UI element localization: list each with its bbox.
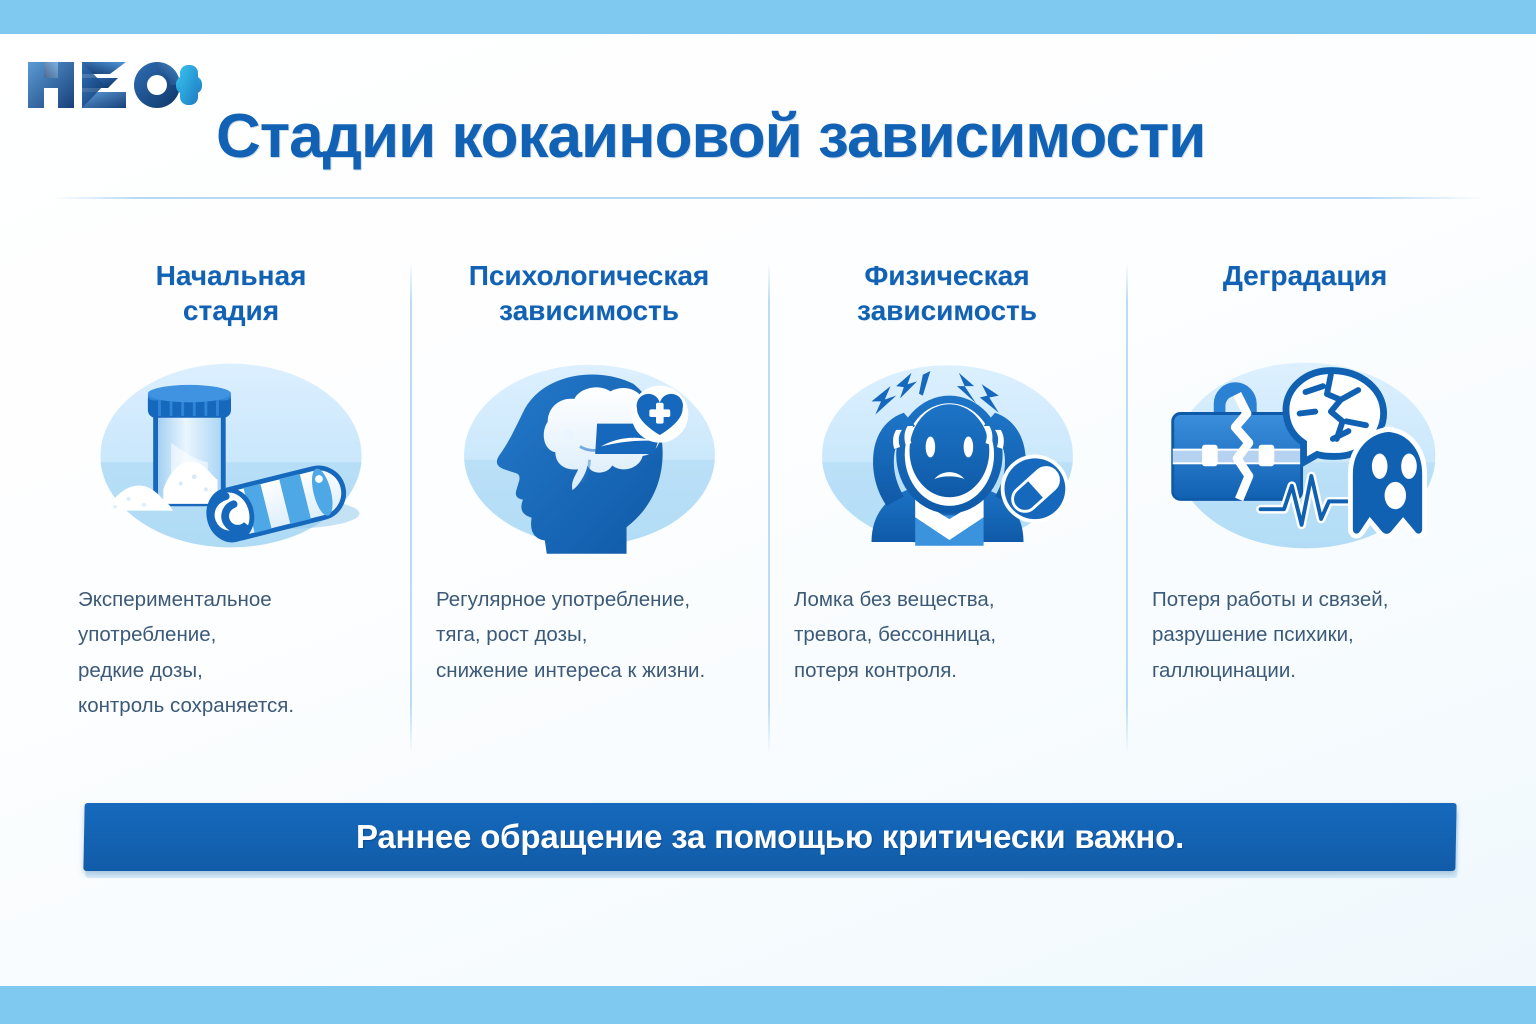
stage-body-2: Регулярное употребление, тяга, рост дозы…	[436, 582, 742, 688]
stage-body-1-line2: употребление,	[78, 617, 384, 652]
stage-title-1-line2: стадия	[183, 295, 279, 326]
top-accent-band	[0, 0, 1536, 34]
broken-briefcase-cracked-brain-ghost-icon	[1155, 350, 1455, 560]
head-brain-heart-plus-icon	[439, 350, 739, 560]
stages-row: Начальная стадия	[52, 250, 1484, 760]
stage-title-1: Начальная стадия	[156, 258, 307, 336]
stage-body-3-line2: тревога, бессонница,	[794, 617, 1100, 652]
stage-column-2: Психологическая зависимость	[410, 250, 768, 760]
stage-title-3-line1: Физическая	[864, 260, 1029, 291]
stage-body-1-line3: редкие дозы,	[78, 653, 384, 688]
stage-title-3: Физическая зависимость	[857, 258, 1037, 336]
stage-body-3: Ломка без вещества, тревога, бессонница,…	[794, 582, 1100, 688]
infographic-poster: Стадии кокаиновой зависимости Начальная …	[0, 0, 1536, 1024]
neo-plus-logo	[24, 54, 204, 116]
stage-body-2-line1: Регулярное употребление,	[436, 582, 742, 617]
stage-body-1-line4: контроль сохраняется.	[78, 688, 384, 723]
stage-column-1: Начальная стадия	[52, 250, 410, 760]
stage-body-3-line3: потеря контроля.	[794, 653, 1100, 688]
stage-title-2: Психологическая зависимость	[469, 258, 710, 336]
powder-jar-and-rolled-bill-icon	[81, 350, 381, 560]
stage-body-3-line1: Ломка без вещества,	[794, 582, 1100, 617]
stage-body-4-line2: разрушение психики,	[1152, 617, 1458, 652]
page-title: Стадии кокаиновой зависимости	[216, 106, 1316, 168]
stage-body-1-line1: Экспериментальное	[78, 582, 384, 617]
bottom-accent-band	[0, 986, 1536, 1024]
stage-title-4-line1: Деградация	[1223, 260, 1387, 291]
stage-title-1-line1: Начальная	[156, 260, 307, 291]
stage-body-1: Экспериментальное употребление, редкие д…	[78, 582, 384, 723]
stage-title-3-line2: зависимость	[857, 295, 1037, 326]
stage-body-4-line3: галлюцинации.	[1152, 653, 1458, 688]
distressed-person-withdrawal-icon	[797, 350, 1097, 560]
stage-column-3: Физическая зависимость	[768, 250, 1126, 760]
call-to-action-text: Раннее обращение за помощью критически в…	[84, 803, 1456, 871]
poster-header: Стадии кокаиновой зависимости	[0, 34, 1536, 198]
stage-column-4: Деградация	[1126, 250, 1484, 760]
header-divider	[52, 197, 1484, 199]
stage-title-2-line1: Психологическая	[469, 260, 710, 291]
stage-body-4-line1: Потеря работы и связей,	[1152, 582, 1458, 617]
stage-body-4: Потеря работы и связей, разрушение психи…	[1152, 582, 1458, 688]
stage-body-2-line2: тяга, рост дозы,	[436, 617, 742, 652]
stage-title-2-line2: зависимость	[499, 295, 679, 326]
stage-title-4: Деградация	[1223, 258, 1387, 336]
stage-body-2-line3: снижение интереса к жизни.	[436, 653, 742, 688]
